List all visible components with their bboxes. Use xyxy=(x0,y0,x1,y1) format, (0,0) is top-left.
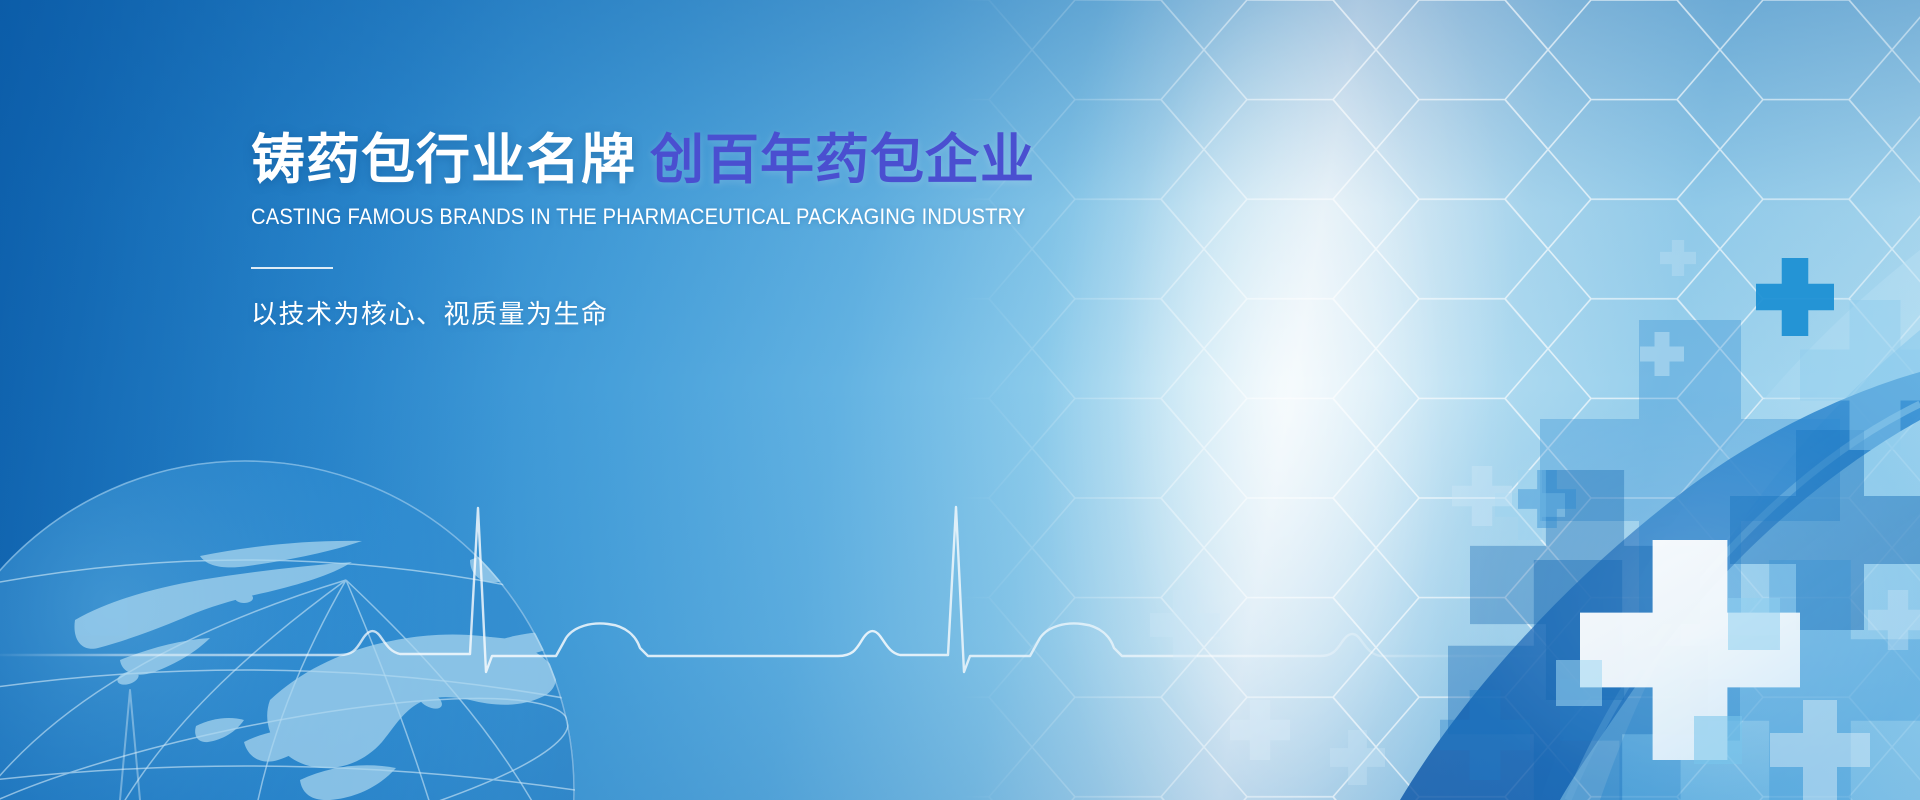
banner-copy: 铸药包行业名牌创百年药包企业 CASTING FAMOUS BRANDS IN … xyxy=(251,133,1251,331)
headline-primary: 铸药包行业名牌 xyxy=(251,130,636,190)
headline-secondary: 创百年药包企业 xyxy=(650,130,1035,190)
hero-banner: 铸药包行业名牌创百年药包企业 CASTING FAMOUS BRANDS IN … xyxy=(0,0,1920,800)
banner-tagline: 以技术为核心、视质量为生命 xyxy=(251,294,1251,331)
banner-subtitle: CASTING FAMOUS BRANDS IN THE PHARMACEUTI… xyxy=(251,204,1146,230)
background-vertical-shade xyxy=(0,0,1920,800)
page-title: 铸药包行业名牌创百年药包企业 xyxy=(251,133,1251,187)
horizontal-rule-divider xyxy=(251,267,333,269)
